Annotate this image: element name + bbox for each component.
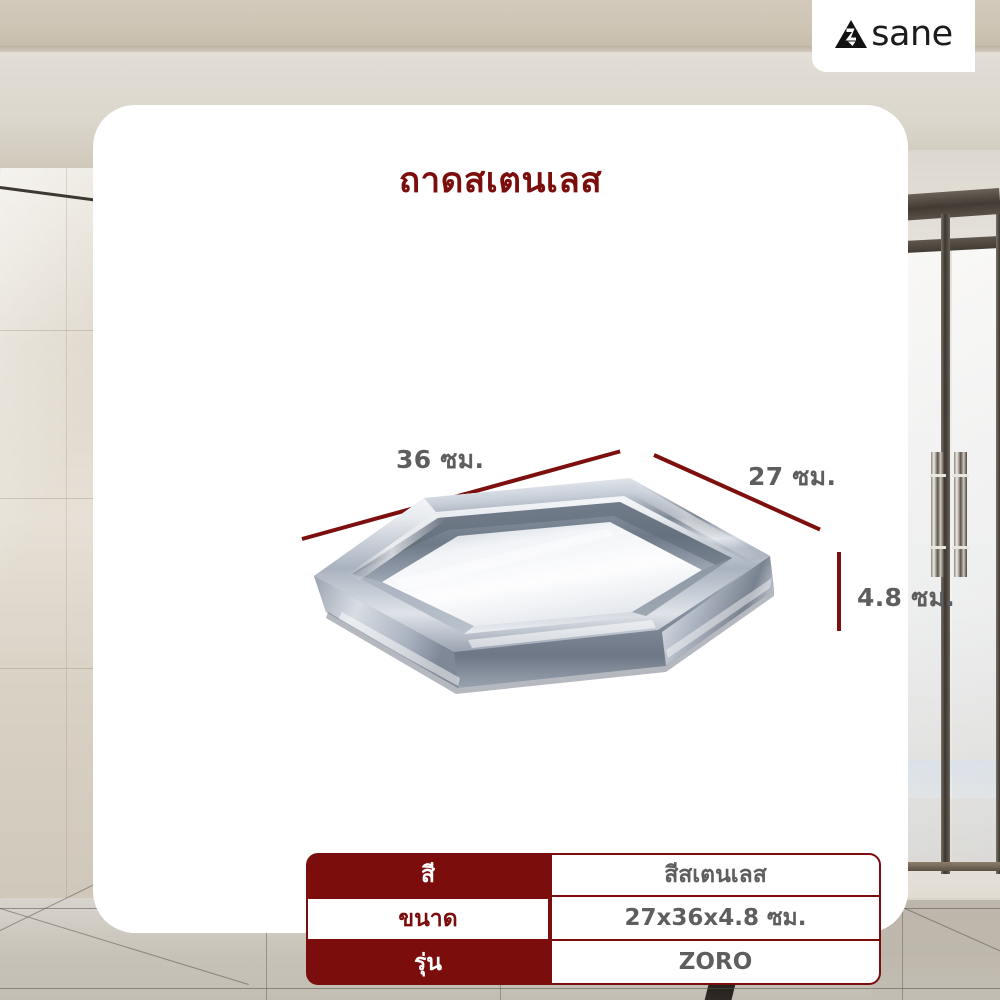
handle-cap bbox=[929, 546, 946, 549]
handle-cap bbox=[929, 474, 946, 477]
product-card: ถาดสเตนเลส 36 ซม. 27 ซม. 4.8 ซม. bbox=[93, 105, 908, 933]
door-handle-right[interactable] bbox=[954, 452, 967, 577]
brand-logo-badge: sane bbox=[812, 0, 975, 72]
spec-value-color: สีสเตนเลส bbox=[550, 853, 881, 897]
spec-label-color: สี bbox=[306, 853, 550, 897]
table-row: รุ่น ZORO bbox=[306, 941, 881, 985]
specification-table: สี สีสเตนเลส ขนาด 27x36x4.8 ซม. รุ่น ZOR… bbox=[306, 853, 881, 985]
product-image-stainless-tray bbox=[308, 470, 808, 710]
brand-name: sane bbox=[871, 17, 952, 52]
sane-triangle-logo-icon bbox=[834, 19, 868, 49]
door-handle-left[interactable] bbox=[931, 452, 944, 577]
height-dimension-line bbox=[837, 552, 841, 631]
floor-grout-line bbox=[902, 898, 903, 1000]
handle-cap bbox=[952, 546, 969, 549]
product-infographic: sane ถาดสเตนเลส 36 ซม. 27 ซม. 4.8 ซม. bbox=[0, 0, 1000, 1000]
height-dimension-label: 4.8 ซม. bbox=[857, 578, 955, 618]
spec-label-model: รุ่น bbox=[306, 941, 550, 985]
stainless-tray-illustration bbox=[308, 470, 808, 710]
table-row: สี สีสเตนเลส bbox=[306, 853, 881, 897]
table-row: ขนาด 27x36x4.8 ซม. bbox=[306, 897, 881, 941]
page-title: ถาดสเตนเลส bbox=[93, 153, 908, 208]
door-mullion bbox=[996, 214, 1000, 874]
spec-value-size: 27x36x4.8 ซม. bbox=[550, 897, 881, 941]
handle-cap bbox=[952, 474, 969, 477]
spec-label-size: ขนาด bbox=[306, 897, 550, 941]
marble-seam-vertical bbox=[66, 168, 67, 898]
spec-value-model: ZORO bbox=[550, 941, 881, 985]
